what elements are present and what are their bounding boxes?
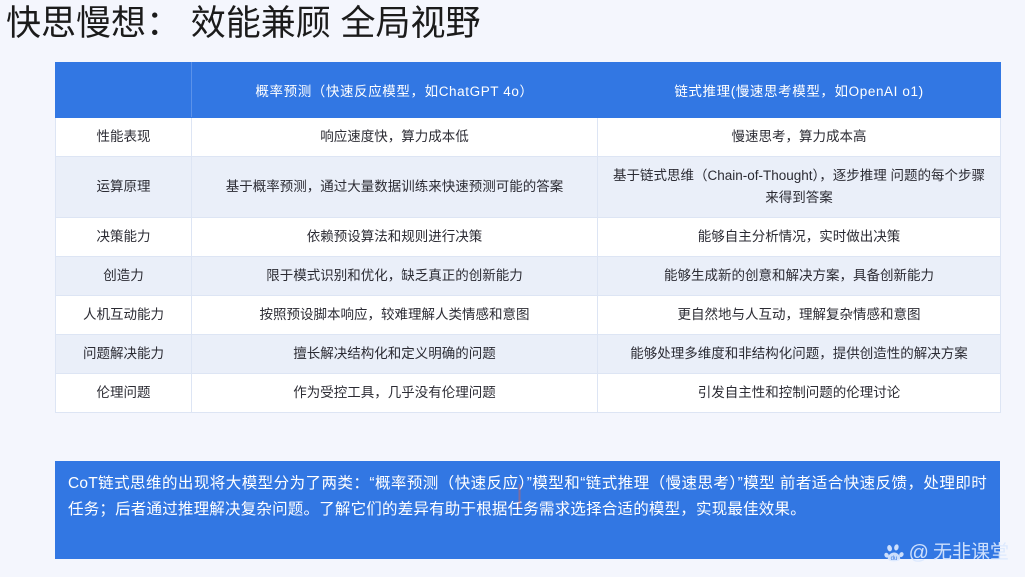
row-label: 运算原理 xyxy=(56,157,192,218)
page-title: 快思慢想： 效能兼顾 全局视野 xyxy=(6,2,626,46)
row-cell-fast: 作为受控工具，几乎没有伦理问题 xyxy=(192,374,598,413)
table-header: 概率预测（快速反应模型，如ChatGPT 4o） 链式推理(慢速思考模型，如Op… xyxy=(56,63,1001,118)
table-row: 性能表现 响应速度快，算力成本低 慢速思考，算力成本高 xyxy=(56,118,1001,157)
row-cell-slow: 更自然地与人互动，理解复杂情感和意图 xyxy=(598,296,1001,335)
row-label: 创造力 xyxy=(56,257,192,296)
row-cell-slow: 基于链式思维（Chain-of-Thought），逐步推理 问题的每个步骤来得到… xyxy=(598,157,1001,218)
row-cell-slow: 慢速思考，算力成本高 xyxy=(598,118,1001,157)
comparison-table-container: 概率预测（快速反应模型，如ChatGPT 4o） 链式推理(慢速思考模型，如Op… xyxy=(55,62,1000,413)
table-row: 创造力 限于模式识别和优化，缺乏真正的创新能力 能够生成新的创意和解决方案，具备… xyxy=(56,257,1001,296)
row-label: 伦理问题 xyxy=(56,374,192,413)
row-label: 性能表现 xyxy=(56,118,192,157)
table-row: 伦理问题 作为受控工具，几乎没有伦理问题 引发自主性和控制问题的伦理讨论 xyxy=(56,374,1001,413)
watermark-at-symbol: @ xyxy=(909,543,929,563)
row-cell-slow: 能够处理多维度和非结构化问题，提供创造性的解决方案 xyxy=(598,335,1001,374)
row-cell-fast: 依赖预设算法和规则进行决策 xyxy=(192,218,598,257)
row-label: 问题解决能力 xyxy=(56,335,192,374)
row-cell-fast: 响应速度快，算力成本低 xyxy=(192,118,598,157)
table-body: 性能表现 响应速度快，算力成本低 慢速思考，算力成本高 运算原理 基于概率预测，… xyxy=(56,118,1001,413)
table-row: 决策能力 依赖预设算法和规则进行决策 能够自主分析情况，实时做出决策 xyxy=(56,218,1001,257)
baidu-paw-icon: du xyxy=(884,542,905,563)
table-header-row: 概率预测（快速反应模型，如ChatGPT 4o） 链式推理(慢速思考模型，如Op… xyxy=(56,63,1001,118)
row-cell-slow: 能够自主分析情况，实时做出决策 xyxy=(598,218,1001,257)
row-label: 人机互动能力 xyxy=(56,296,192,335)
row-cell-fast: 擅长解决结构化和定义明确的问题 xyxy=(192,335,598,374)
row-cell-fast: 基于概率预测，通过大量数据训练来快速预测可能的答案 xyxy=(192,157,598,218)
table-row: 问题解决能力 擅长解决结构化和定义明确的问题 能够处理多维度和非结构化问题，提供… xyxy=(56,335,1001,374)
table-row: 人机互动能力 按照预设脚本响应，较难理解人类情感和意图 更自然地与人互动，理解复… xyxy=(56,296,1001,335)
table-row: 运算原理 基于概率预测，通过大量数据训练来快速预测可能的答案 基于链式思维（Ch… xyxy=(56,157,1001,218)
svg-text:du: du xyxy=(890,556,897,562)
row-label: 决策能力 xyxy=(56,218,192,257)
summary-text: CoT链式思维的出现将大模型分为了两类：“概率预测（快速反应）”模型和“链式推理… xyxy=(68,471,987,523)
table-header-cell-blank xyxy=(56,63,192,118)
row-cell-slow: 引发自主性和控制问题的伦理讨论 xyxy=(598,374,1001,413)
comparison-table: 概率预测（快速反应模型，如ChatGPT 4o） 链式推理(慢速思考模型，如Op… xyxy=(55,62,1001,413)
table-header-cell-slow: 链式推理(慢速思考模型，如OpenAI o1) xyxy=(598,63,1001,118)
summary-callout: CoT链式思维的出现将大模型分为了两类：“概率预测（快速反应）”模型和“链式推理… xyxy=(55,461,1000,559)
watermark: du @ 无非课堂 xyxy=(884,542,1009,563)
watermark-name: 无非课堂 xyxy=(933,543,1009,562)
row-cell-slow: 能够生成新的创意和解决方案，具备创新能力 xyxy=(598,257,1001,296)
table-header-cell-fast: 概率预测（快速反应模型，如ChatGPT 4o） xyxy=(192,63,598,118)
row-cell-fast: 限于模式识别和优化，缺乏真正的创新能力 xyxy=(192,257,598,296)
row-cell-fast: 按照预设脚本响应，较难理解人类情感和意图 xyxy=(192,296,598,335)
